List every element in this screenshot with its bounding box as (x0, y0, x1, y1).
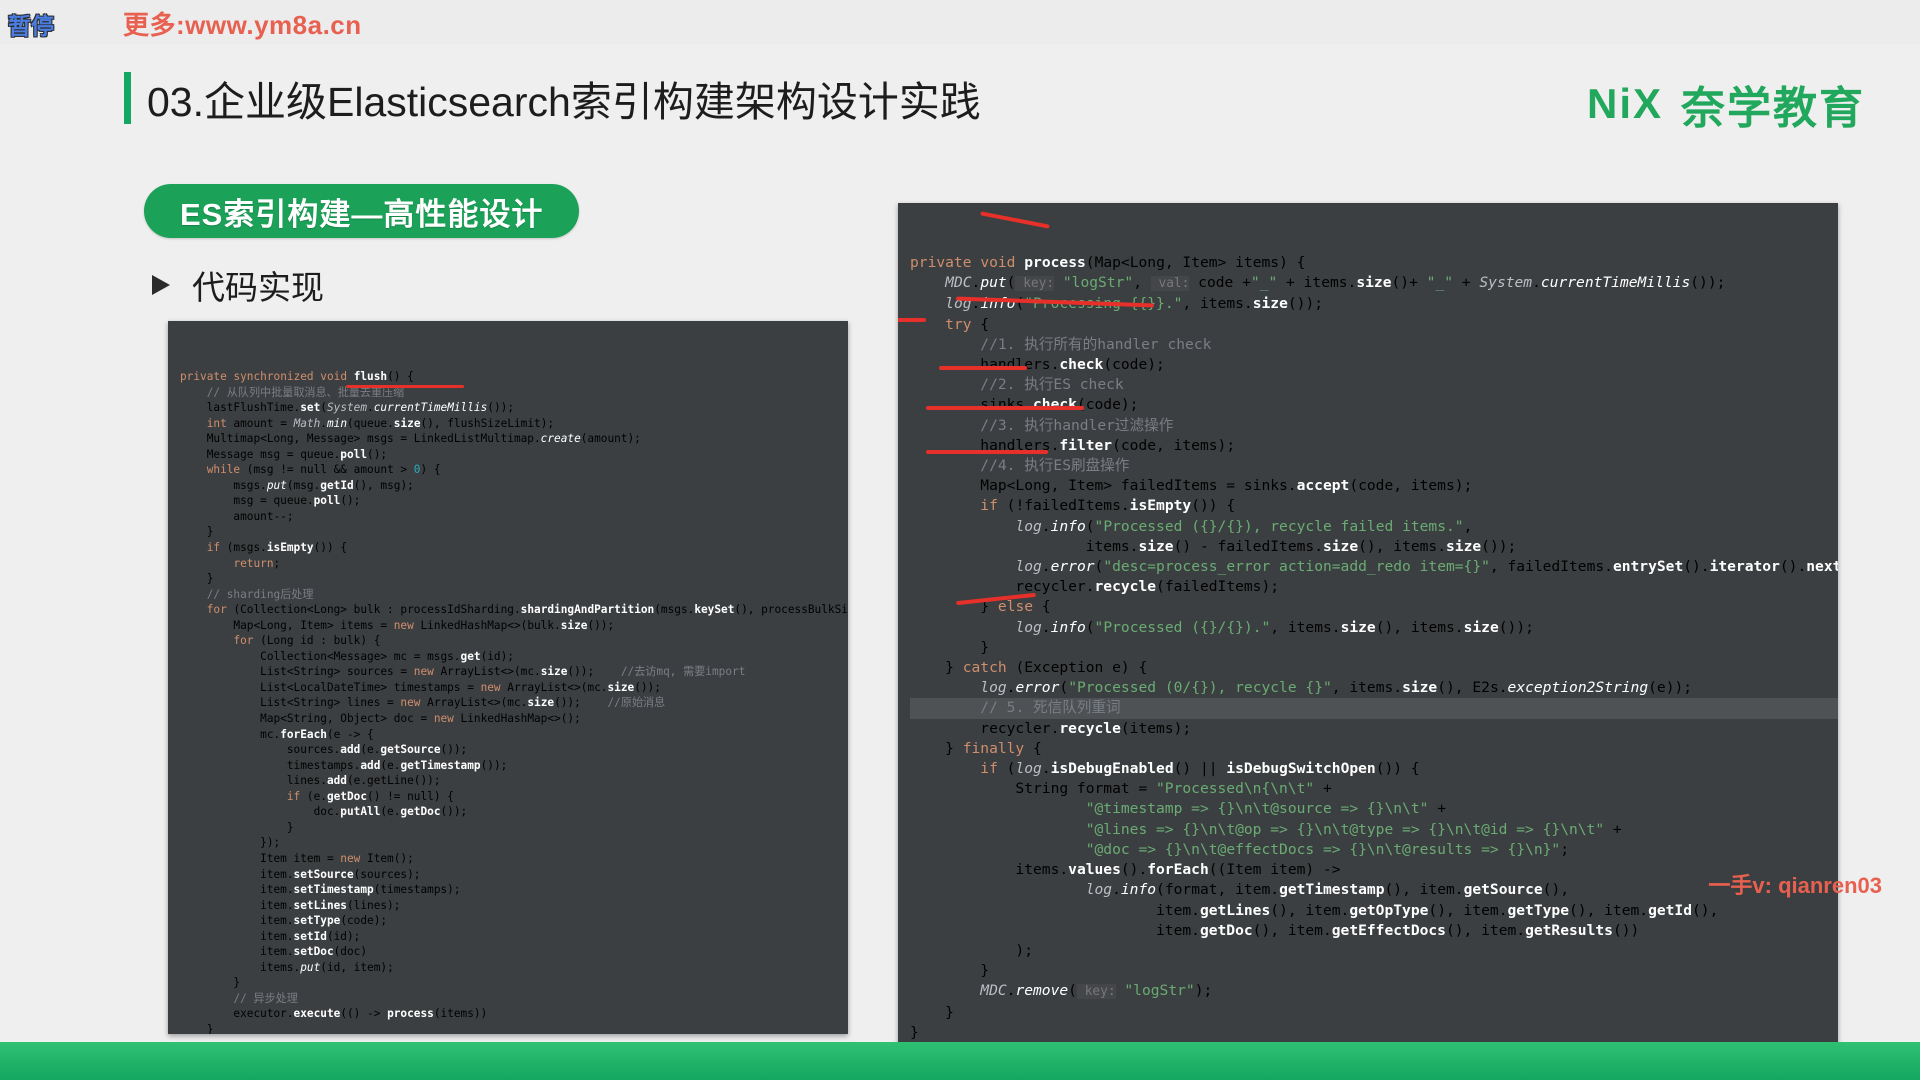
page-title: 03.企业级Elasticsearch索引构建架构设计实践 (147, 68, 981, 128)
pause-badge: 暂停 (8, 7, 54, 41)
bullet-item-code-implementation: 代码实现 (152, 261, 324, 309)
code-line: item.setDoc(doc) (180, 944, 848, 960)
code-line: msg = queue.poll(); (180, 493, 848, 509)
code-line: String format = "Processed\n{\n\t" + (910, 779, 1838, 799)
code-panel-flush[interactable]: private synchronized void flush() { // 从… (168, 321, 848, 1034)
code-line: } (910, 1003, 1838, 1023)
code-line: mc.forEach(e -> { (180, 727, 848, 743)
code-line: lastFlushTime.set(System.currentTimeMill… (180, 400, 848, 416)
code-line: } (180, 975, 848, 991)
code-line: for (Long id : bulk) { (180, 633, 848, 649)
code-line: "@timestamp => {}\n\t@source => {}\n\t" … (910, 799, 1838, 819)
code-panel-process[interactable]: private void process(Map<Long, Item> ite… (898, 203, 1838, 1060)
code-right-body: private void process(Map<Long, Item> ite… (898, 241, 1838, 1043)
code-line: MDC.put( key: "logStr", val: code +"_" +… (910, 273, 1838, 294)
code-line: items.size() - failedItems.size(), items… (910, 537, 1838, 557)
code-line: //4. 执行ES刷盘操作 (910, 456, 1838, 476)
ink-underline-handler-filter (926, 406, 1084, 410)
code-line: log.info("Processed ({}/{}).", items.siz… (910, 618, 1838, 638)
code-line: executor.execute(() -> process(items)) (180, 1006, 848, 1022)
ink-underline-process (980, 211, 1049, 228)
code-line: List<String> sources = new ArrayList<>(m… (180, 664, 848, 680)
code-left-body: private synchronized void flush() { // 从… (168, 359, 848, 1034)
code-line: recycler.recycle(failedItems); (910, 577, 1838, 597)
right-watermark-text: 一手v: qianren03 (1708, 868, 1882, 900)
code-line: //1. 执行所有的handler check (910, 335, 1838, 355)
code-line: } else { (910, 597, 1838, 617)
ink-dash-handlers (898, 318, 926, 322)
code-line: int amount = Math.min(queue.size(), flus… (180, 416, 848, 432)
code-line: } catch (Exception e) { (910, 658, 1838, 678)
code-line: items.put(id, item); (180, 960, 848, 976)
code-line: doc.putAll(e.getDoc()); (180, 804, 848, 820)
code-line: log.error("Processed (0/{}), recycle {}"… (910, 678, 1838, 698)
code-line: Collection<Message> mc = msgs.get(id); (180, 649, 848, 665)
code-line: //2. 执行ES check (910, 375, 1838, 395)
code-line: // 5. 死信队列重词 (910, 698, 1838, 718)
code-line: List<String> lines = new ArrayList<>(mc.… (180, 695, 848, 711)
code-line: return; (180, 556, 848, 572)
bullet-label: 代码实现 (192, 261, 324, 309)
code-line: "@doc => {}\n\t@effectDocs => {}\n\t@res… (910, 840, 1838, 860)
code-line: // 从队列中批量取消息、批量去重压缩 (180, 385, 848, 401)
ink-underline-es-check (939, 366, 1027, 370)
ink-underline-item (926, 450, 1048, 454)
code-line: item.setId(id); (180, 929, 848, 945)
code-line: for (Collection<Long> bulk : processIdSh… (180, 602, 848, 618)
code-line: } (180, 524, 848, 540)
brand-logo: NiX 奈学教育 (1587, 72, 1865, 136)
code-line: try { (910, 315, 1838, 335)
code-line: log.error("desc=process_error action=add… (910, 557, 1838, 577)
code-line: Message msg = queue.poll(); (180, 447, 848, 463)
code-line: Item item = new Item(); (180, 851, 848, 867)
code-line: while (msg != null && amount > 0) { (180, 462, 848, 478)
section-pill-label: ES索引构建—高性能设计 (180, 189, 543, 234)
code-line: items.values().forEach((Item item) -> (910, 860, 1838, 880)
code-line: //3. 执行handler过滤操作 (910, 416, 1838, 436)
code-line: private void process(Map<Long, Item> ite… (910, 253, 1838, 273)
code-line: // 异步处理 (180, 991, 848, 1007)
code-line: // sharding后处理 (180, 587, 848, 603)
code-line: }); (180, 835, 848, 851)
code-line: } (910, 961, 1838, 981)
title-accent-bar (124, 72, 131, 124)
top-watermark-text: 更多:www.ym8a.cn (123, 5, 362, 42)
code-line: } (910, 638, 1838, 658)
code-line: item.setTimestamp(timestamps); (180, 882, 848, 898)
code-line: item.setType(code); (180, 913, 848, 929)
code-line: ); (910, 941, 1838, 961)
code-line: private synchronized void flush() { (180, 369, 848, 385)
code-line: Map<Long, Item> failedItems = sinks.acce… (910, 476, 1838, 496)
code-line: MDC.remove( key: "logStr"); (910, 981, 1838, 1002)
code-line: timestamps.add(e.getTimestamp()); (180, 758, 848, 774)
top-watermark-bar: 暂停 更多:www.ym8a.cn (0, 0, 1920, 44)
code-line: } (180, 571, 848, 587)
code-line: "@lines => {}\n\t@op => {}\n\t@type => {… (910, 820, 1838, 840)
code-line: if (e.getDoc() != null) { (180, 789, 848, 805)
code-line: } (910, 1023, 1838, 1043)
code-line: lines.add(e.getLine()); (180, 773, 848, 789)
ink-underline-1 (346, 385, 464, 388)
code-line: item.setSource(sources); (180, 867, 848, 883)
code-line: msgs.put(msg.getId(), msg); (180, 478, 848, 494)
code-line: if (log.isDebugEnabled() || isDebugSwitc… (910, 759, 1838, 779)
code-line: handlers.filter(code, items); (910, 436, 1838, 456)
slide-header: 03.企业级Elasticsearch索引构建架构设计实践 (124, 68, 981, 128)
code-line: log.info("Processing {{}}.", items.size(… (910, 294, 1838, 314)
code-line: Map<String, Object> doc = new LinkedHash… (180, 711, 848, 727)
code-line: } finally { (910, 739, 1838, 759)
code-line: if (msgs.isEmpty()) { (180, 540, 848, 556)
code-line: List<LocalDateTime> timestamps = new Arr… (180, 680, 848, 696)
code-line: log.info("Processed ({}/{}), recycle fai… (910, 517, 1838, 537)
code-line: Multimap<Long, Message> msgs = LinkedLis… (180, 431, 848, 447)
code-line: recycler.recycle(items); (910, 719, 1838, 739)
code-line: if (!failedItems.isEmpty()) { (910, 496, 1838, 516)
code-line: item.setLines(lines); (180, 898, 848, 914)
code-line: amount--; (180, 509, 848, 525)
code-line: } (180, 820, 848, 836)
code-line: handlers.check(code); (910, 355, 1838, 375)
code-line: item.getDoc(), item.getEffectDocs(), ite… (910, 921, 1838, 941)
code-line: } (180, 1022, 848, 1034)
code-line: Map<Long, Item> items = new LinkedHashMa… (180, 618, 848, 634)
section-pill: ES索引构建—高性能设计 (144, 184, 579, 238)
footer-accent-bar (0, 1042, 1920, 1080)
brand-name-label: 奈学教育 (1681, 72, 1865, 136)
brand-mark-icon: NiX (1587, 80, 1663, 128)
code-line: item.getLines(), item.getOpType(), item.… (910, 901, 1838, 921)
code-line: sources.add(e.getSource()); (180, 742, 848, 758)
arrow-bullet-icon (152, 275, 170, 295)
code-line: log.info(format, item.getTimestamp(), it… (910, 880, 1838, 900)
